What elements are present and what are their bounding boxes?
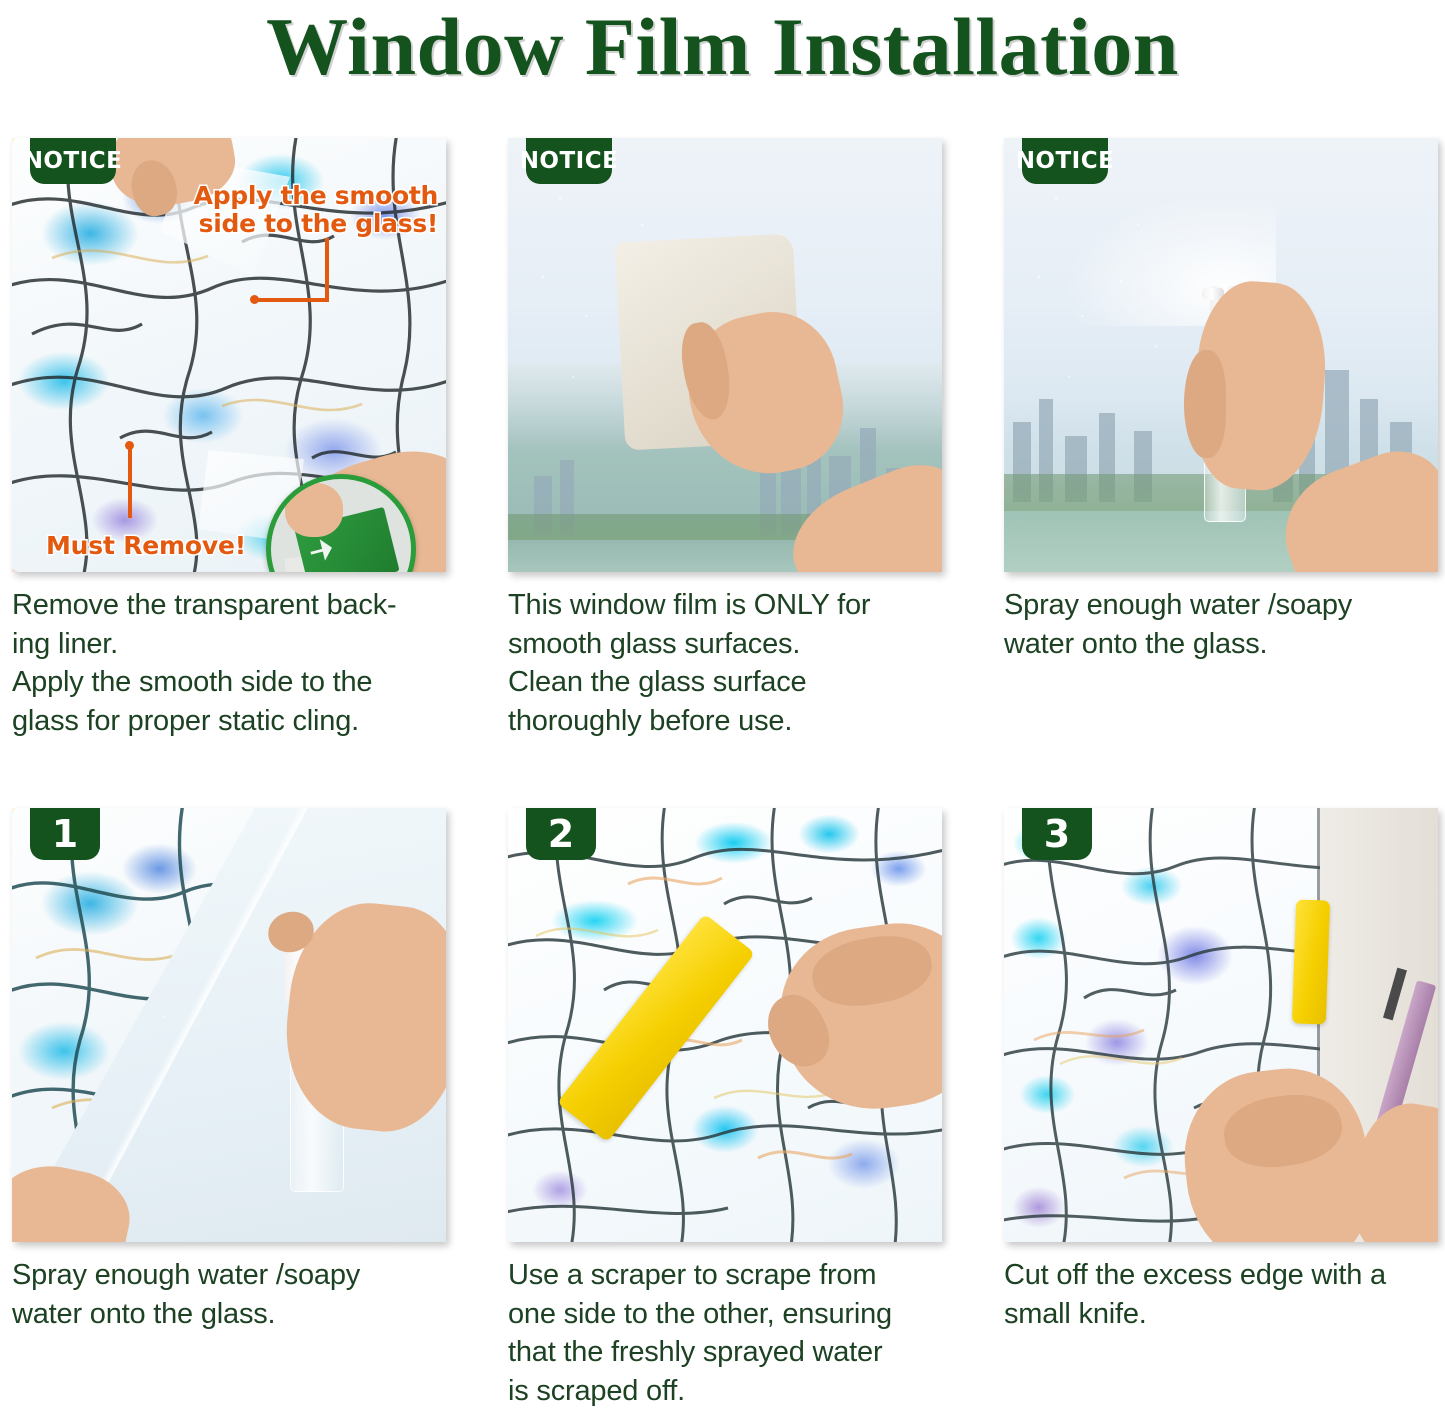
panel-step3-photo: 3 <box>1004 808 1438 1242</box>
caption-line: Clean the glass surface <box>508 663 942 702</box>
panel-step1-caption: Spray enough water /soapy water onto the… <box>12 1256 446 1333</box>
panel-clean-glass-caption: This window film is ONLY for smooth glas… <box>508 586 942 740</box>
yellow-scraper <box>1292 899 1330 1024</box>
panel-spray-water-caption: Spray enough water /soapy water onto the… <box>1004 586 1438 663</box>
panel-step1-photo: 1 <box>12 808 446 1242</box>
callout-must-remove-text: Must Remove! <box>46 532 246 560</box>
panel-remove-liner-caption: Remove the transparent back- ing liner. … <box>12 586 446 740</box>
panel-clean-glass: NOTICE This window film is ONLY for smoo… <box>508 138 942 740</box>
panel-step1-spray: 1 Spray enough water /soapy water onto t… <box>12 808 446 1410</box>
panel-step2-photo: 2 <box>508 808 942 1242</box>
caption-line: is scraped off. <box>508 1372 942 1410</box>
caption-line: Spray enough water /soapy <box>1004 586 1438 625</box>
step-number-badge: 3 <box>1022 808 1092 860</box>
panel-step3-caption: Cut off the excess edge with a small kni… <box>1004 1256 1438 1333</box>
caption-line: thoroughly before use. <box>508 702 942 741</box>
panel-spray-water: NOTICE Spray enough water /soapy water o… <box>1004 138 1438 740</box>
notice-badge: NOTICE <box>526 138 612 184</box>
panel-grid-row-1: NOTICE Apply the smooth side to the glas… <box>12 138 1437 740</box>
caption-line: Cut off the excess edge with a <box>1004 1256 1438 1295</box>
caption-line: Remove the transparent back- <box>12 586 446 625</box>
caption-line: Use a scraper to scrape from <box>508 1256 942 1295</box>
thumb <box>1184 350 1226 458</box>
page-title: Window Film Installation <box>0 0 1445 88</box>
caption-line: water onto the glass. <box>1004 625 1438 664</box>
caption-line: glass for proper static cling. <box>12 702 446 741</box>
panel-remove-liner: NOTICE Apply the smooth side to the glas… <box>12 138 446 740</box>
callout-apply-leader-horizontal <box>255 298 329 302</box>
callout-apply-smooth-side: Apply the smooth side to the glass! <box>194 182 438 238</box>
caption-line: one side to the other, ensuring <box>508 1295 942 1334</box>
panel-clean-glass-photo: NOTICE <box>508 138 942 572</box>
callout-apply-line-1: Apply the smooth <box>194 182 438 210</box>
caption-line: Spray enough water /soapy <box>12 1256 446 1295</box>
callout-must-leader-dot <box>125 441 134 450</box>
panel-step2-scrape: 2 Use a scraper to scrape from one side … <box>508 808 942 1410</box>
panel-step3-cut: 3 Cut off the excess edge with a small k… <box>1004 808 1438 1410</box>
panel-spray-water-photo: NOTICE <box>1004 138 1438 572</box>
caption-line: Apply the smooth side to the <box>12 663 446 702</box>
notice-badge: NOTICE <box>30 138 116 184</box>
panel-grid-row-2: 1 Spray enough water /soapy water onto t… <box>12 808 1437 1410</box>
callout-apply-leader-dot <box>250 295 259 304</box>
caption-line: This window film is ONLY for <box>508 586 942 625</box>
callout-must-leader-vertical <box>128 446 132 518</box>
callout-apply-leader-vertical <box>325 238 329 302</box>
step-number-badge: 2 <box>526 808 596 860</box>
step-number-badge: 1 <box>30 808 100 860</box>
panel-remove-liner-photo: NOTICE Apply the smooth side to the glas… <box>12 138 446 572</box>
caption-line: small knife. <box>1004 1295 1438 1334</box>
notice-badge: NOTICE <box>1022 138 1108 184</box>
callout-apply-line-2: side to the glass! <box>194 210 438 238</box>
callout-must-remove: Must Remove! <box>46 532 246 560</box>
panel-step2-caption: Use a scraper to scrape from one side to… <box>508 1256 942 1410</box>
caption-line: smooth glass surfaces. <box>508 625 942 664</box>
magnifier-finger <box>285 483 343 537</box>
caption-line: that the freshly sprayed water <box>508 1333 942 1372</box>
caption-line: ing liner. <box>12 625 446 664</box>
caption-line: water onto the glass. <box>12 1295 446 1334</box>
